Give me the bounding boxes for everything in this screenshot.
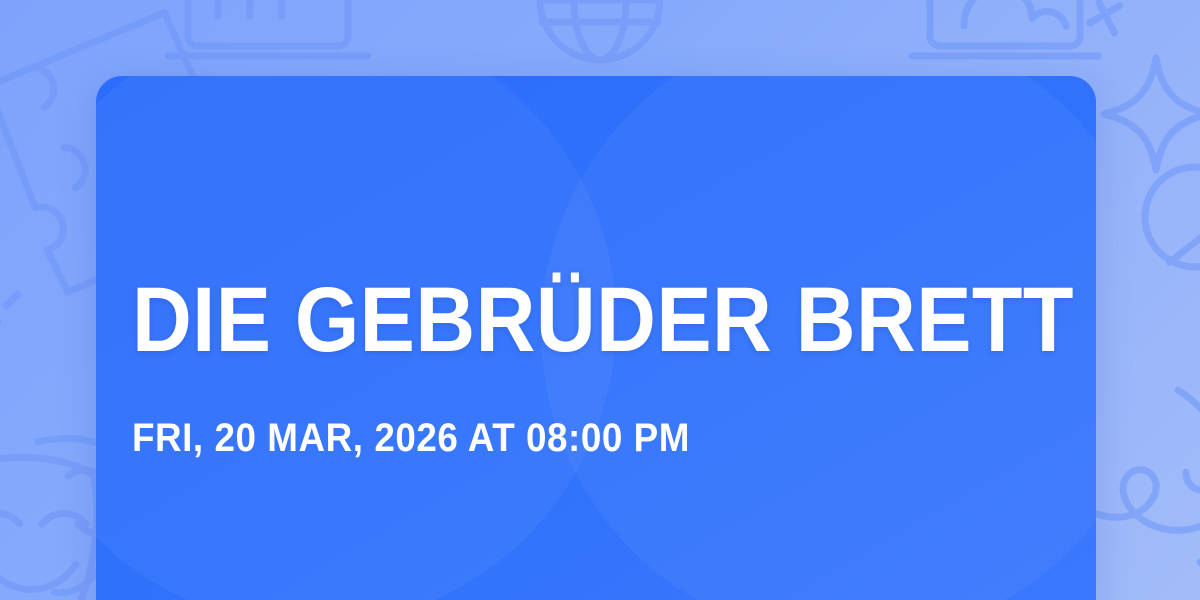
microphone-icon xyxy=(1125,147,1200,357)
sparkle-icon xyxy=(1104,58,1200,170)
globe-icon xyxy=(540,0,660,60)
event-datetime: Fri, 20 Mar, 2026 at 08:00 PM xyxy=(132,417,690,459)
laptop-presentation-icon xyxy=(912,0,1098,56)
confetti-icon xyxy=(0,294,18,340)
event-card: Die Gebrüder Brett in Köln Fri, 20 Mar, … xyxy=(96,76,1096,600)
event-banner: Die Gebrüder Brett in Köln Fri, 20 Mar, … xyxy=(0,0,1200,600)
sparkle-icon xyxy=(1084,0,1128,40)
event-card-content: Die Gebrüder Brett in Köln Fri, 20 Mar, … xyxy=(132,76,1060,600)
laptop-presentation-icon xyxy=(168,0,368,56)
event-title: Die Gebrüder Brett in Köln xyxy=(132,274,1096,366)
